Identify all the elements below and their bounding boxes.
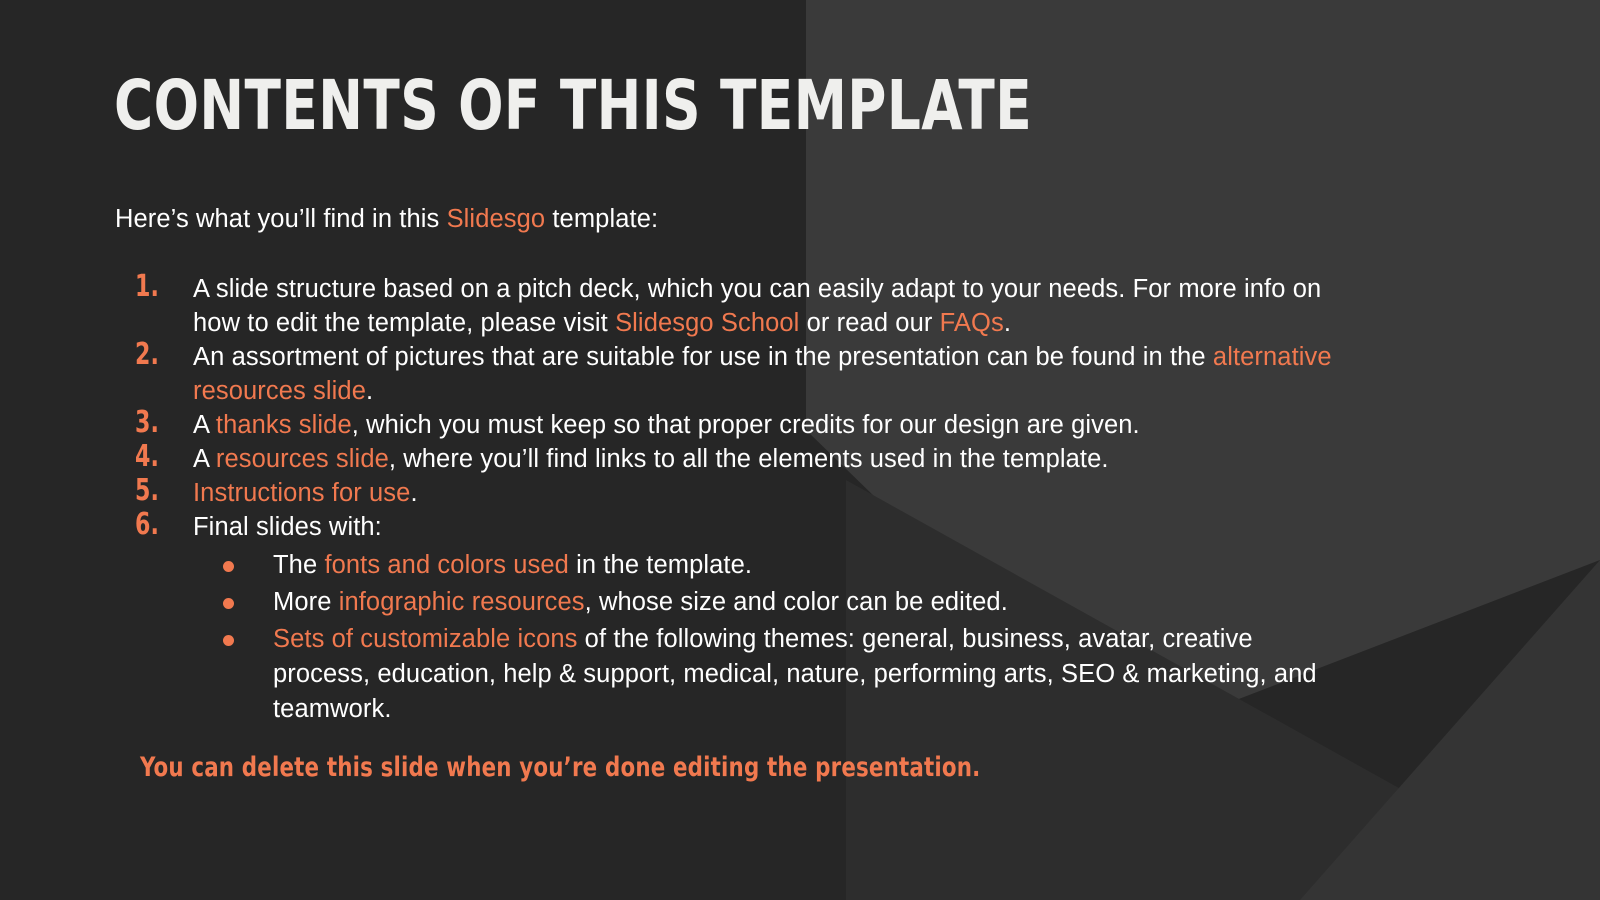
list-item: 4. A resources slide, where you’ll find …: [115, 442, 1355, 476]
list-item-text: A slide structure based on a pitch deck,…: [193, 275, 1321, 337]
list-item: 2. An assortment of pictures that are su…: [115, 340, 1355, 408]
contents-list: 1. A slide structure based on a pitch de…: [115, 272, 1355, 729]
list-item-text: A thanks slide, which you must keep so t…: [193, 411, 1140, 439]
text-run: or read our: [799, 309, 939, 337]
text-run: .: [410, 479, 417, 507]
text-run-highlight: infographic resources: [339, 588, 585, 616]
sub-list-item: The fonts and colors used in the templat…: [193, 548, 1355, 583]
text-run: A: [193, 411, 216, 439]
sub-list-item: Sets of customizable icons of the follow…: [193, 622, 1355, 727]
intro-text-before: Here’s what you’ll find in this: [115, 205, 447, 233]
list-item-text: Instructions for use.: [193, 479, 418, 507]
page-title: CONTENTS OF THIS TEMPLATE: [114, 72, 1032, 141]
list-item-number: 4.: [135, 440, 174, 474]
list-item-text: Final slides with:: [193, 513, 382, 541]
bullet-dot-icon: [223, 635, 234, 646]
text-run: , which you must keep so that proper cre…: [352, 411, 1140, 439]
text-run: The: [273, 551, 324, 579]
list-item-number: 1.: [135, 270, 174, 304]
text-run-highlight: Slidesgo School: [615, 309, 799, 337]
list-item: 1. A slide structure based on a pitch de…: [115, 272, 1355, 340]
text-run: .: [1004, 309, 1011, 337]
list-item-number: 5.: [135, 474, 174, 508]
text-run-highlight: Instructions for use: [193, 479, 410, 507]
bullet-dot-icon: [223, 598, 234, 609]
text-run: , whose size and color can be edited.: [585, 588, 1008, 616]
intro-paragraph: Here’s what you’ll find in this Slidesgo…: [115, 202, 658, 236]
text-run: , where you’ll find links to all the ele…: [389, 445, 1109, 473]
delete-slide-note: You can delete this slide when you’re do…: [140, 752, 980, 783]
list-item-text: An assortment of pictures that are suita…: [193, 343, 1332, 405]
sub-list-item-text: Sets of customizable icons of the follow…: [273, 625, 1317, 723]
text-run-highlight: fonts and colors used: [324, 551, 569, 579]
sub-list-item-text: More infographic resources, whose size a…: [273, 588, 1008, 616]
text-run-highlight: resources slide: [216, 445, 389, 473]
slide-canvas: CONTENTS OF THIS TEMPLATE Here’s what yo…: [0, 0, 1600, 900]
sub-list-item: More infographic resources, whose size a…: [193, 585, 1355, 620]
list-item-number: 2.: [135, 338, 174, 372]
text-run: More: [273, 588, 339, 616]
list-item: 5. Instructions for use.: [115, 476, 1355, 510]
text-run: Final slides with:: [193, 513, 382, 541]
slide-content: CONTENTS OF THIS TEMPLATE Here’s what yo…: [0, 0, 1600, 900]
text-run-highlight: Sets of customizable icons: [273, 625, 578, 653]
text-run-highlight: thanks slide: [216, 411, 352, 439]
list-item: 3. A thanks slide, which you must keep s…: [115, 408, 1355, 442]
list-item-number: 6.: [135, 508, 174, 542]
sub-list: The fonts and colors used in the templat…: [193, 548, 1355, 727]
text-run: A: [193, 445, 216, 473]
text-run: An assortment of pictures that are suita…: [193, 343, 1213, 371]
list-item-text: A resources slide, where you’ll find lin…: [193, 445, 1109, 473]
list-item-number: 3.: [135, 406, 174, 440]
list-item: 6. Final slides with: The fonts and colo…: [115, 510, 1355, 727]
text-run: in the template.: [569, 551, 752, 579]
sub-list-item-text: The fonts and colors used in the templat…: [273, 551, 752, 579]
intro-highlight-slidesgo: Slidesgo: [447, 205, 546, 233]
bullet-dot-icon: [223, 561, 234, 572]
text-run: .: [366, 377, 373, 405]
text-run-highlight: FAQs: [940, 309, 1004, 337]
intro-text-after: template:: [545, 205, 658, 233]
